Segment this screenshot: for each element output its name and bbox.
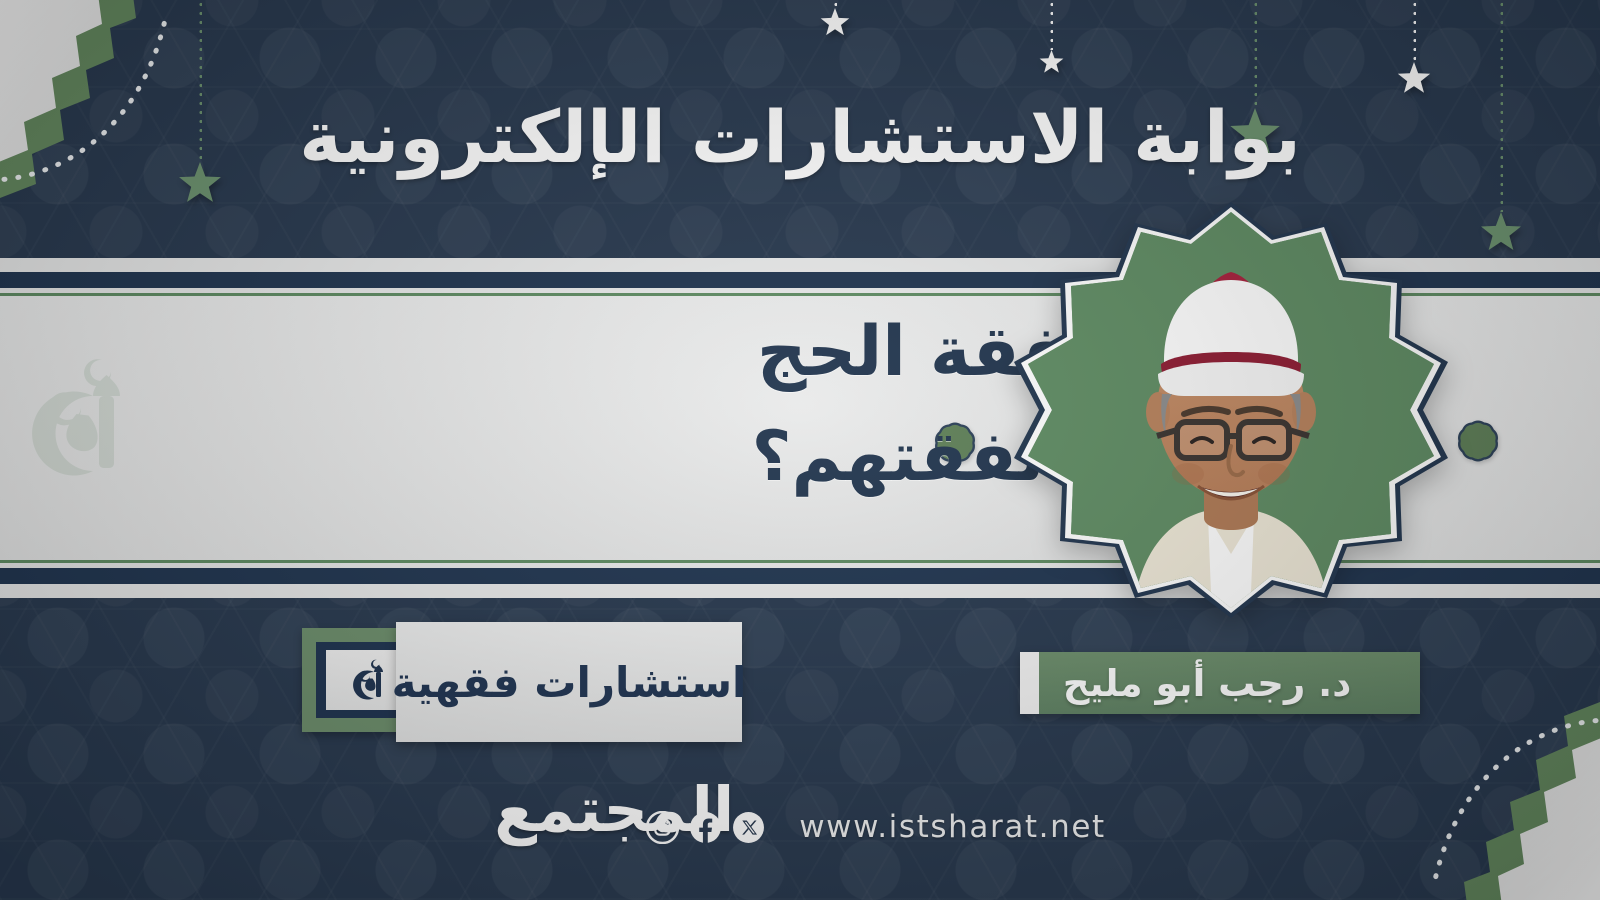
section-badge: استشارات فقهية <box>302 622 742 742</box>
header-calligraphy-text: بوابة الاستشارات الإلكترونية <box>299 101 1301 173</box>
facebook-icon[interactable] <box>689 811 722 844</box>
header-calligraphy: بوابة الاستشارات الإلكترونية <box>0 52 1600 222</box>
scallop-dot-right <box>1455 418 1501 468</box>
speaker-name-text: د. رجب أبو مليح <box>1063 662 1377 705</box>
section-badge-label-box: استشارات فقهية <box>396 622 742 742</box>
instagram-icon[interactable] <box>646 811 679 844</box>
footer-calligraphy: المجتمع <box>494 779 624 875</box>
name-badge-tab <box>1020 652 1039 714</box>
speaker-name-badge: د. رجب أبو مليح <box>1020 652 1420 714</box>
speaker-portrait <box>1012 198 1450 618</box>
footer-calligraphy-text: المجتمع <box>494 779 624 841</box>
x-twitter-icon[interactable] <box>732 811 765 844</box>
crescent-minaret-watermark-icon <box>24 336 174 486</box>
poster-canvas: بوابة الاستشارات الإلكترونية هل تجب <box>0 0 1600 900</box>
section-badge-label: استشارات فقهية <box>392 658 747 707</box>
footer-bar: المجتمع <box>0 772 1600 882</box>
website-url[interactable]: www.istsharat.net <box>799 809 1106 845</box>
social-links <box>646 811 765 844</box>
